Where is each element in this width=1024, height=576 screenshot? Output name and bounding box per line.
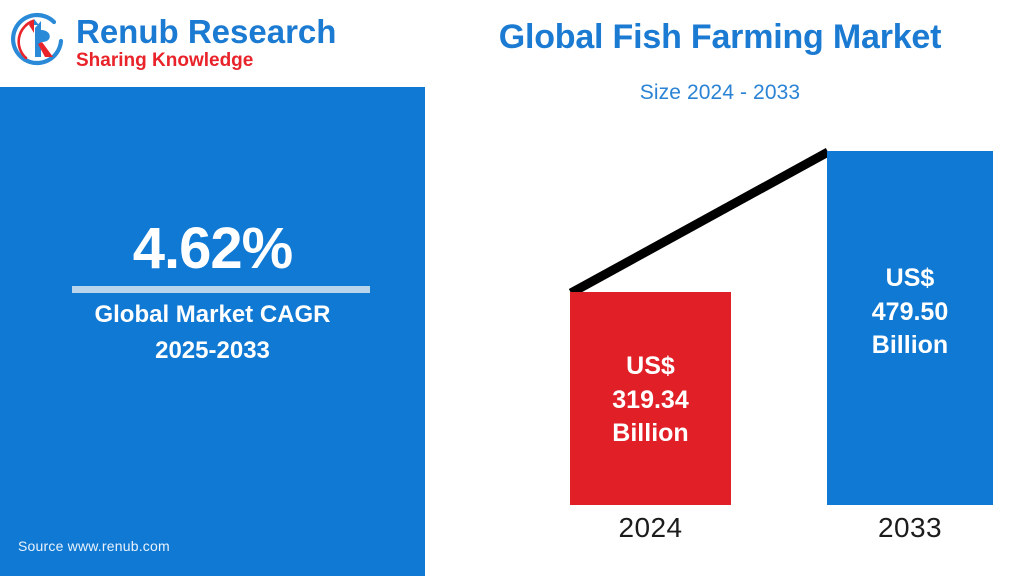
brand-name: Renub Research <box>76 15 336 48</box>
source-note: Source www.renub.com <box>18 538 170 554</box>
bar-2024-label: US$ 319.34 Billion <box>570 350 731 451</box>
bar-chart: US$ 319.34 Billion US$ 479.50 Billion 20… <box>440 120 1024 576</box>
cagr-panel: 4.62% Global Market CAGR 2025-2033 Sourc… <box>0 87 425 576</box>
axis-label-2024: 2024 <box>570 512 731 544</box>
brand-wordmark: Renub Research Sharing Knowledge <box>76 15 336 70</box>
bar-2033-label-line-1: US$ <box>827 262 993 296</box>
bar-2033-label-line-2: 479.50 <box>827 296 993 330</box>
page-subtitle: Size 2024 - 2033 <box>430 81 1010 105</box>
cagr-caption-line-2: 2025-2033 <box>0 333 425 369</box>
cagr-value: 4.62% <box>0 215 425 282</box>
cagr-divider <box>72 286 370 293</box>
bar-2024: US$ 319.34 Billion <box>570 292 731 505</box>
infographic-root: Renub Research Sharing Knowledge Global … <box>0 0 1024 576</box>
bar-2024-label-line-2: 319.34 <box>570 384 731 418</box>
bar-2033: US$ 479.50 Billion <box>827 151 993 505</box>
renub-circular-arrow-r-icon <box>8 11 70 73</box>
cagr-caption-line-1: Global Market CAGR <box>0 297 425 333</box>
brand-logo: Renub Research Sharing Knowledge <box>8 4 338 80</box>
bar-2033-label: US$ 479.50 Billion <box>827 262 993 363</box>
bar-2024-label-line-3: Billion <box>570 417 731 451</box>
axis-label-2033: 2033 <box>827 512 993 544</box>
brand-tagline: Sharing Knowledge <box>76 51 336 70</box>
page-title: Global Fish Farming Market <box>430 18 1010 57</box>
cagr-caption: Global Market CAGR 2025-2033 <box>0 297 425 368</box>
bar-2024-label-line-1: US$ <box>570 350 731 384</box>
bar-2033-label-line-3: Billion <box>827 329 993 363</box>
